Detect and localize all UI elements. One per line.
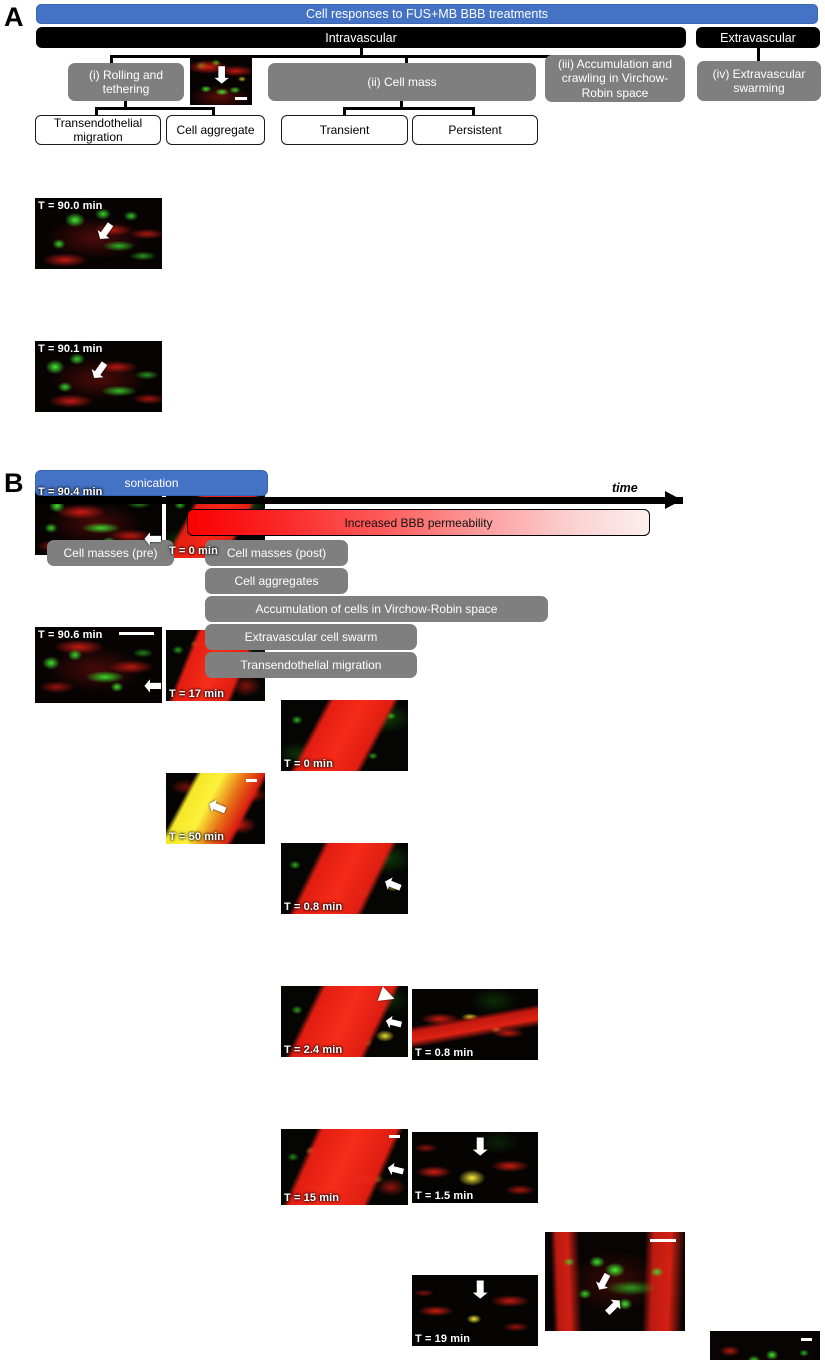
panel-a-title-banner: Cell responses to FUS+MB BBB treatments [36,4,818,24]
timeline-axis [35,497,683,504]
timestamp-label: T = 0.8 min [284,901,342,913]
timestamp-label: T = 90.4 min [38,486,102,498]
time-axis-label: time [612,481,638,495]
connector-cellmass-bus [343,107,475,110]
scale-bar-icon [801,1338,812,1341]
arrow-annotation-icon: ⬇ [140,675,162,697]
timestamp-label: T = 90.1 min [38,343,102,355]
bbb-permeability-bar: Increased BBB permeability [187,509,650,536]
panel-a-letter: A [4,4,24,31]
timestamp-label: T = 0 min [169,545,218,557]
scale-bar-icon [235,97,247,100]
timestamp-label: T = 15 min [284,1192,339,1204]
category-rolling-tethering: (i) Rolling and tethering [68,63,184,101]
micrograph-persistent-1: T = 0.8 min [412,989,538,1060]
category-accumulation-virchow-robin: (iii) Accumulation and crawling in Virch… [545,55,685,102]
micrograph-transient-2: T = 0.8 min ⬇ [281,843,408,914]
scale-bar-icon [650,1239,676,1242]
timestamp-label: T = 50 min [169,831,224,843]
branch-extravascular: Extravascular [696,27,820,48]
micrograph-transendothelial-2: T = 90.1 min ⬇ [35,341,162,412]
micrograph-rolling-tethering: ⬇ [190,57,252,105]
scale-bar-icon [246,779,257,782]
timeline-arrowhead-icon [665,491,682,509]
timestamp-label: T = 90.6 min [38,629,102,641]
tissue-texture [710,1331,820,1360]
column-header-transendothelial-migration: Transendothelial migration [35,115,161,145]
micrograph-persistent-2: T = 1.5 min ⬇ [412,1132,538,1203]
category-extravascular-swarming: (iv) Extravascular swarming [697,61,821,101]
column-header-cell-aggregate: Cell aggregate [166,115,265,145]
timestamp-label: T = 0.8 min [415,1047,473,1059]
micrograph-transient-3: T = 2.4 min ◀ ⬇ [281,986,408,1057]
micrograph-transendothelial-1: T = 90.0 min ⬇ [35,198,162,269]
connector-rolling-bus [95,107,215,110]
event-cell-aggregates: Cell aggregates [205,568,348,594]
arrow-annotation-icon: ⬇ [467,1278,492,1302]
event-accumulation-virchow-robin: Accumulation of cells in Virchow-Robin s… [205,596,548,622]
micrograph-transient-1: T = 0 min [281,700,408,771]
micrograph-extravascular-swarming: ⬇ [710,1331,820,1360]
timestamp-label: T = 2.4 min [284,1044,342,1056]
column-header-persistent: Persistent [412,115,538,145]
event-extravascular-cell-swarm: Extravascular cell swarm [205,624,417,650]
scale-bar-icon [119,632,154,635]
micrograph-transient-4: T = 15 min ⬇ [281,1129,408,1205]
timestamp-label: T = 19 min [415,1333,470,1345]
micrograph-accumulation-virchow-robin: ⬇ ⬇ [545,1232,685,1331]
arrow-annotation-icon: ⬇ [140,528,162,550]
micrograph-aggregate-3: T = 50 min ⬇ [166,773,265,844]
micrograph-persistent-3: T = 19 min ⬇ [412,1275,538,1346]
timestamp-label: T = 17 min [169,688,224,700]
timestamp-label: T = 1.5 min [415,1190,473,1202]
timestamp-label: T = 0 min [284,758,333,770]
category-cell-mass: (ii) Cell mass [268,63,536,101]
timestamp-label: T = 90.0 min [38,200,102,212]
panel-b-letter: B [4,470,24,497]
scale-bar-icon [389,1135,400,1138]
micrograph-transendothelial-4: T = 90.6 min ⬇ [35,627,162,703]
event-cell-masses-post: Cell masses (post) [205,540,348,566]
arrow-annotation-icon: ⬇ [210,65,234,88]
event-transendothelial-migration: Transendothelial migration [205,652,417,678]
arrow-annotation-icon: ⬇ [467,1135,492,1159]
branch-intravascular: Intravascular [36,27,686,48]
column-header-transient: Transient [281,115,408,145]
